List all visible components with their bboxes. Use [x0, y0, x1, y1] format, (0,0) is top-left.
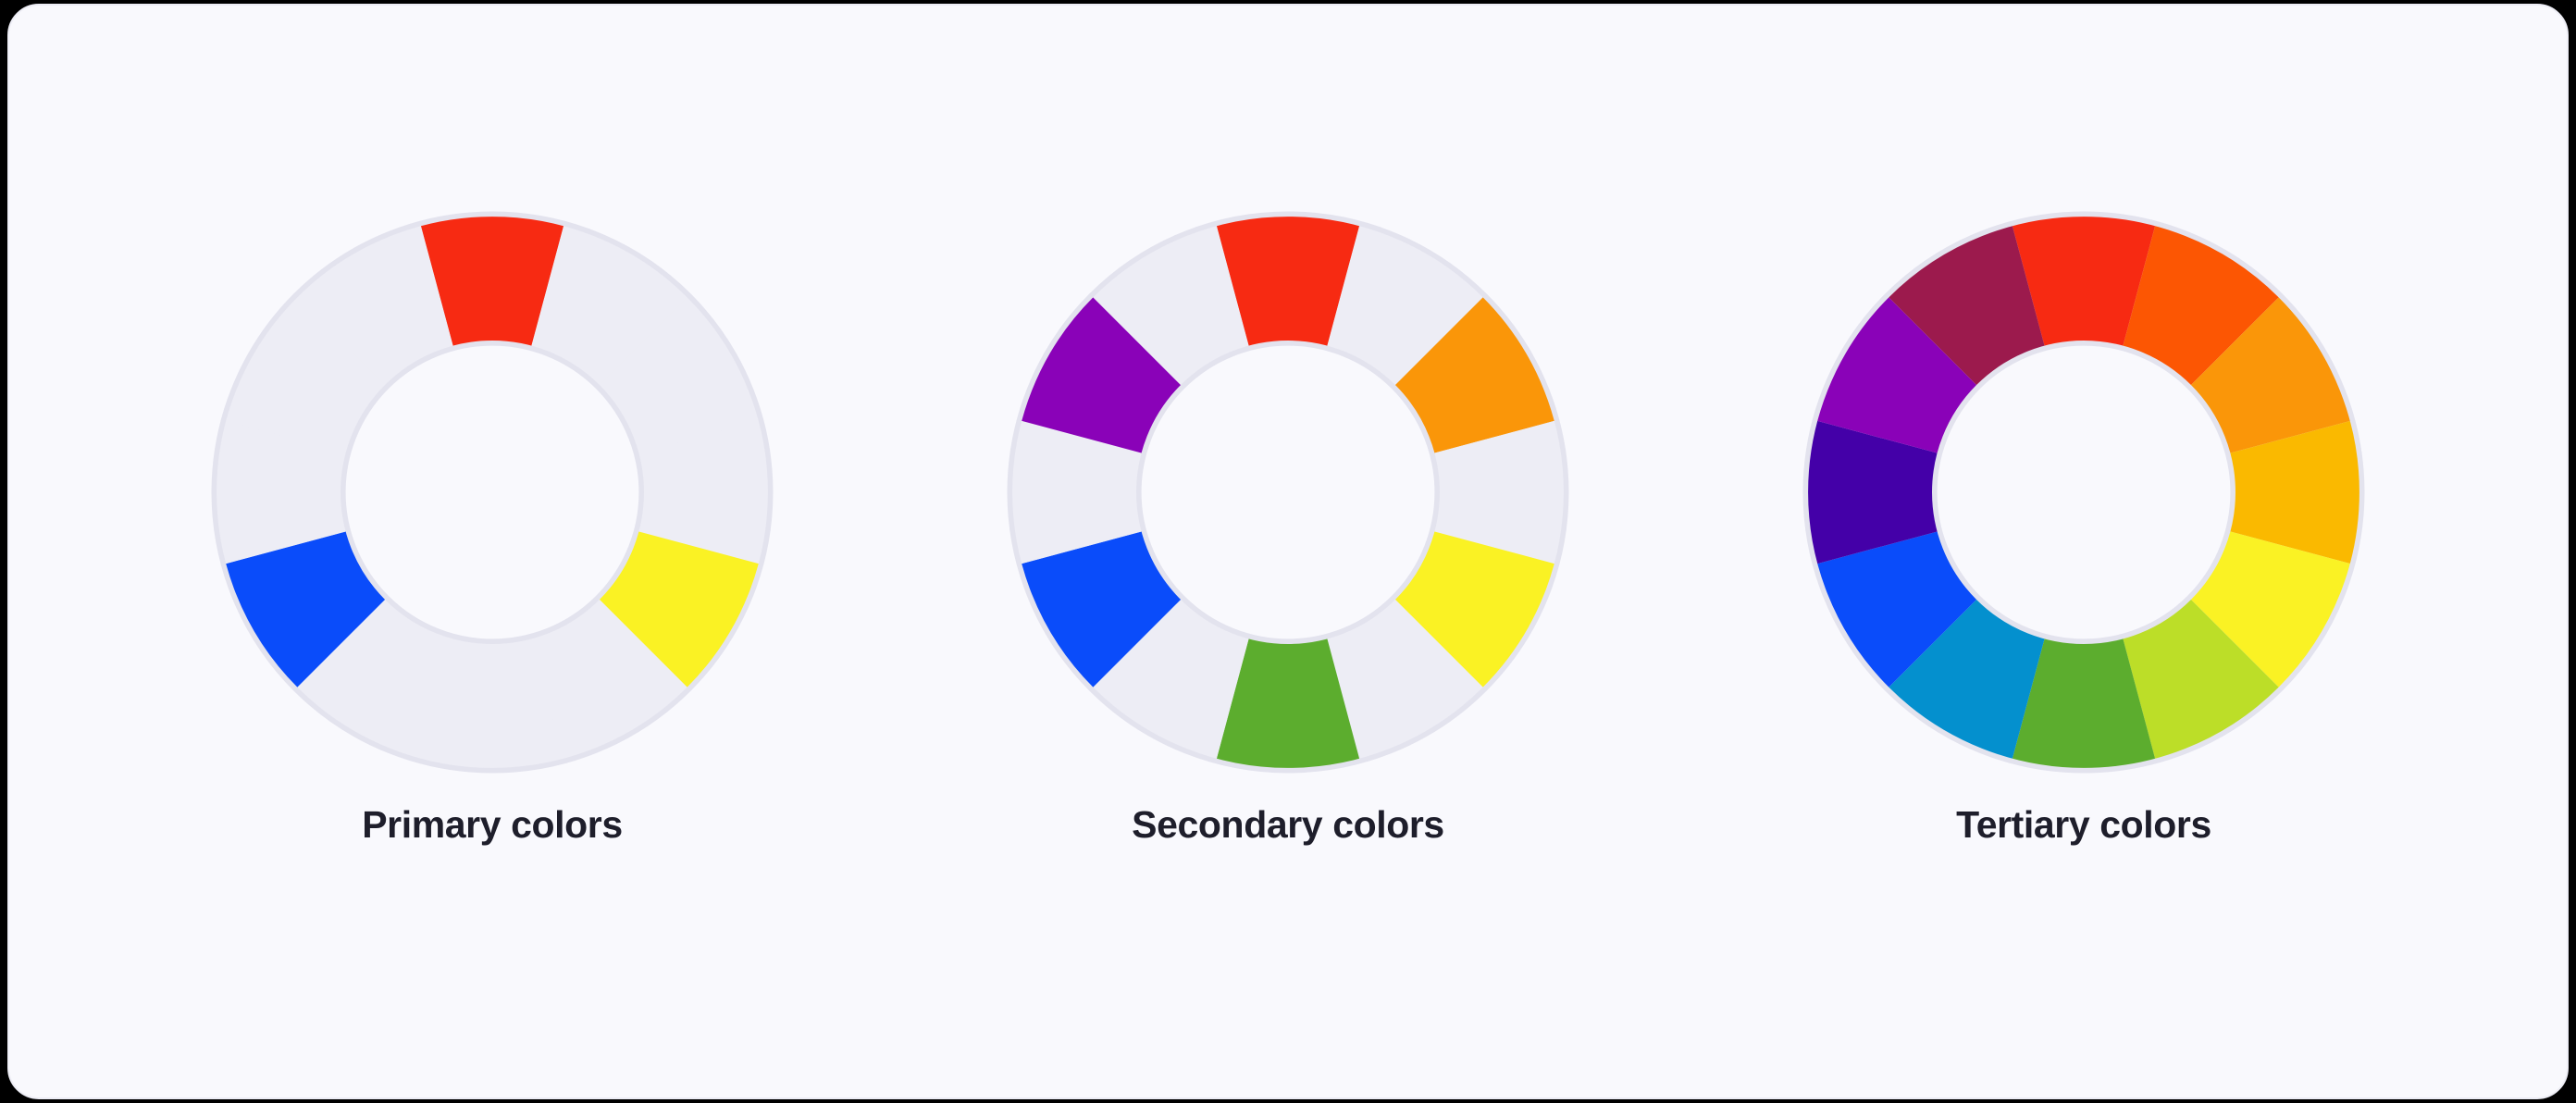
color-wheels-card: Primary colors Secondary colors Tertiary…	[7, 4, 2569, 1099]
color-wheel-block-primary: Primary colors	[94, 205, 890, 847]
color-wheel-tertiary[interactable]	[1797, 205, 2371, 779]
color-wheels-row: Primary colors Secondary colors Tertiary…	[9, 6, 2567, 1097]
color-wheel-block-tertiary: Tertiary colors	[1686, 205, 2482, 847]
color-wheel-block-secondary: Secondary colors	[890, 205, 1686, 847]
color-wheel-svg-secondary	[1001, 205, 1575, 779]
wheel-inner-hole	[343, 343, 641, 641]
screenshot-root: Primary colors Secondary colors Tertiary…	[0, 0, 2576, 1103]
color-wheel-label-tertiary: Tertiary colors	[1956, 803, 2211, 847]
wheel-inner-hole	[1935, 343, 2233, 641]
color-wheel-label-primary: Primary colors	[362, 803, 623, 847]
color-wheel-secondary[interactable]	[1001, 205, 1575, 779]
color-wheel-label-secondary: Secondary colors	[1132, 803, 1444, 847]
color-wheel-primary[interactable]	[205, 205, 779, 779]
wheel-inner-hole	[1139, 343, 1437, 641]
color-wheel-svg-tertiary	[1797, 205, 2371, 779]
color-wheel-svg-primary	[205, 205, 779, 779]
